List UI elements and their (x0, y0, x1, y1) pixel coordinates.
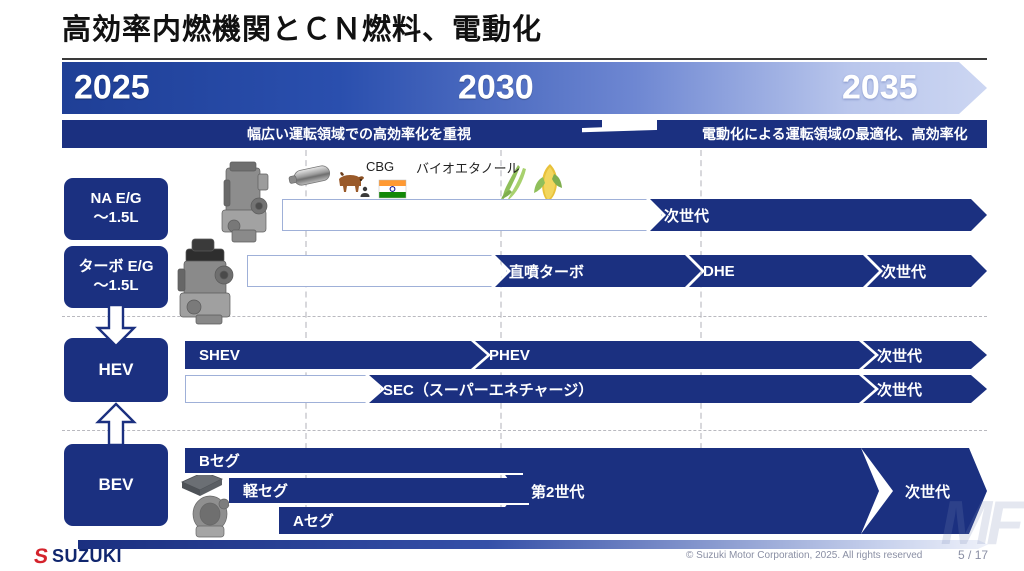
bev-seg-kei-segment-label: 軽セグ (229, 480, 288, 501)
banner-right-text: 電動化による運転領域の最適化、高効率化 (702, 120, 968, 148)
separator-hev-bev (62, 430, 987, 431)
timeline-year-2035: 2035 (842, 69, 918, 108)
india-flag-icon (378, 178, 408, 200)
hev-seg-sec-next-gen[interactable]: 次世代 (863, 375, 987, 403)
slide-canvas: 高効率内燃機関とＣＮ燃料、電動化 2025 2030 2035 幅広い運転領域で… (0, 0, 1024, 571)
category-hev-label: HEV (99, 359, 134, 380)
strategy-banner: 幅広い運転領域での高効率化を重視 電動化による運転領域の最適化、高効率化 (62, 120, 987, 148)
hev-sec-row: SEC（スーパーエネチャージ） 次世代 (185, 375, 987, 403)
timeline-year-2025: 2025 (74, 69, 150, 108)
cbg-label: CBG (366, 159, 394, 174)
arrow-up-icon (95, 402, 137, 446)
bev-seg-gen2[interactable]: 第2世代 (485, 448, 879, 534)
bev-seg-a-segment[interactable]: Aセグ (279, 507, 535, 534)
bev-seg-kei-segment[interactable]: 軽セグ (229, 478, 529, 505)
gas-cylinder-icon (286, 163, 338, 189)
page-number: 5 / 17 (958, 548, 988, 562)
turbo-engine-row: 直噴ターボ DHE 次世代 (247, 255, 987, 287)
hev-seg-sec[interactable]: SEC（スーパーエネチャージ） (369, 375, 875, 403)
hev-shev-row: SHEV PHEV 次世代 (185, 341, 987, 369)
footer-rule (78, 540, 988, 549)
page-title: 高効率内燃機関とＣＮ燃料、電動化 (62, 6, 542, 48)
hev-seg-phev[interactable]: PHEV (475, 341, 875, 369)
turbo-seg-di-turbo[interactable]: 直噴ターボ (495, 255, 701, 287)
page-number-total: / 17 (968, 548, 988, 562)
bev-seg-b-segment-label: Bセグ (185, 450, 240, 471)
suzuki-s-mark-icon: S (33, 546, 50, 567)
category-na-engine-line1: NA E/G (90, 190, 141, 209)
hev-seg-shev[interactable]: SHEV (185, 341, 487, 369)
banner-left-text: 幅広い運転領域での高効率化を重視 (247, 120, 471, 148)
category-na-engine[interactable]: NA E/G ～1.5L (64, 178, 168, 240)
bev-seg-b-segment[interactable]: Bセグ (185, 448, 523, 475)
turbo-seg-dhe[interactable]: DHE (689, 255, 879, 287)
hev-seg-sec-label: SEC（スーパーエネチャージ） (369, 379, 593, 400)
na-engine-row: 次世代 (282, 199, 987, 231)
page-number-current: 5 (958, 548, 965, 562)
bev-seg-next-gen[interactable]: 次世代 (861, 448, 987, 534)
turbo-seg-next-gen[interactable]: 次世代 (867, 255, 987, 287)
bioethanol-label: バイオエタノール (416, 158, 520, 177)
copyright-text: © Suzuki Motor Corporation, 2025. All ri… (686, 550, 922, 561)
hev-seg-next-gen[interactable]: 次世代 (863, 341, 987, 369)
arrow-down-icon (95, 304, 137, 348)
suzuki-logo: S SUZUKI (34, 546, 122, 567)
turbo-engine-photo (172, 235, 244, 327)
category-bev[interactable]: BEV (64, 444, 168, 526)
category-na-engine-line2: ～1.5L (93, 209, 138, 228)
category-turbo-engine[interactable]: ターボ E/G ～1.5L (64, 246, 168, 308)
turbo-seg-current[interactable] (247, 255, 507, 287)
na-engine-seg-next-gen[interactable]: 次世代 (650, 199, 987, 231)
category-turbo-engine-line1: ターボ E/G (78, 258, 153, 277)
category-turbo-engine-line2: ～1.5L (93, 277, 138, 296)
timeline-year-2030: 2030 (458, 69, 534, 108)
timeline-top-rule (62, 58, 987, 60)
timeline: 2025 2030 2035 (62, 62, 987, 114)
hev-seg-shev-label: SHEV (185, 347, 240, 364)
turbo-seg-di-turbo-label: 直噴ターボ (495, 261, 584, 282)
bev-seg-a-segment-label: Aセグ (279, 510, 334, 531)
person-icon (359, 186, 371, 198)
hev-seg-sec-current[interactable] (185, 375, 381, 403)
bev-row: 第2世代 次世代 Bセグ 軽セグ Aセグ (185, 448, 987, 534)
category-bev-label: BEV (99, 474, 134, 495)
suzuki-wordmark: SUZUKI (52, 546, 122, 567)
na-engine-seg-current[interactable] (282, 199, 662, 231)
